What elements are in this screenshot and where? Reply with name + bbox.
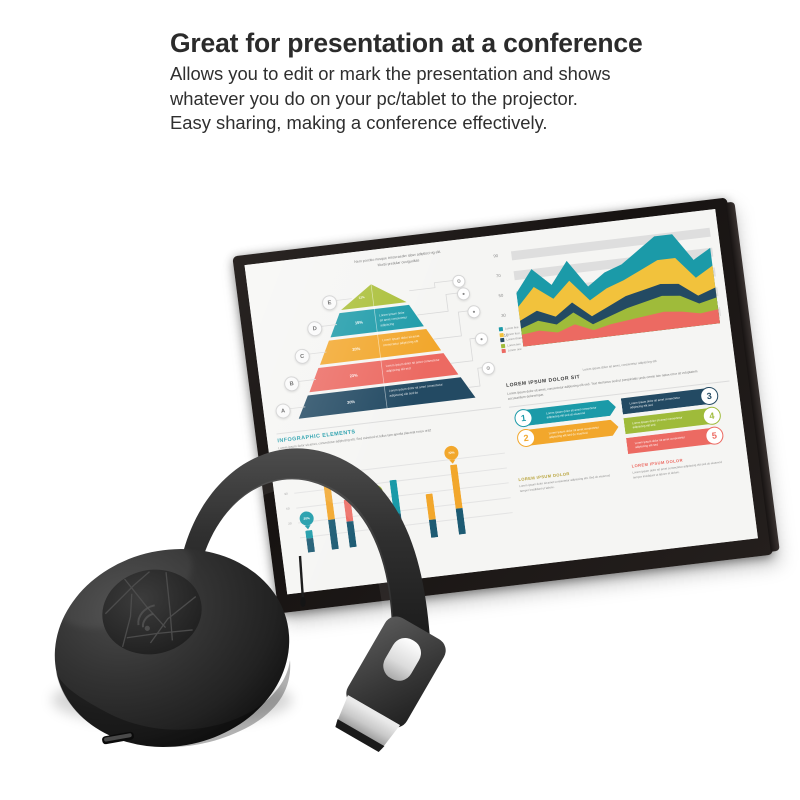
pyramid-pct-b: 23% — [349, 372, 358, 378]
pyramid-infographic: E D C B A ⚙ ● ● ● ⚙ 12% — [257, 257, 500, 429]
presentation-slide: Nem porcitio nusque trisceraeder iaber a… — [245, 209, 758, 594]
slide-left-column: E D C B A ⚙ ● ● ● ⚙ 12% — [257, 257, 517, 555]
stacked-area-chart: 90 70 50 30 10 — [489, 224, 725, 371]
bar-pin-0: 20% — [299, 511, 315, 527]
tv-screen: smart Nem porcitio nusque trisceraeder i… — [245, 209, 758, 594]
pyramid-pct-a: 30% — [347, 399, 356, 405]
pyramid-pct-e: 12% — [358, 295, 364, 300]
tv-body: smart Nem porcitio nusque trisceraeder i… — [232, 197, 773, 613]
legend-item-4: Lorem one — [502, 347, 524, 354]
area-chart-legend: Lorem five Lorem four Lorem three Lorem … — [499, 325, 524, 355]
footer-column-0: LOREM IPSUM DOLOR Lorem ipsum dolor sit … — [518, 465, 617, 493]
bar-1 — [322, 472, 339, 550]
bar-6 — [450, 465, 466, 535]
area-ytick-50: 50 — [498, 293, 503, 299]
bar-ytick-90: 90 — [284, 492, 288, 496]
area-ytick-30: 30 — [501, 313, 506, 319]
bar-ytick-30: 30 — [288, 522, 292, 526]
bar-ytick-60: 60 — [286, 507, 290, 511]
slide-right-column: 90 70 50 30 10 — [489, 224, 741, 494]
footer-column-1: LOREM IPSUM DOLOR Lorem ipsum dolor sit … — [631, 452, 730, 480]
bar-3 — [374, 504, 386, 544]
product-marketing-image: Great for presentation at a conference A… — [0, 0, 800, 800]
bar-pin-1: 61% — [315, 453, 331, 469]
area-ytick-90: 90 — [493, 253, 498, 259]
bar-2 — [344, 500, 357, 548]
bar-0 — [305, 530, 315, 553]
television-display: smart Nem porcitio nusque trisceraeder i… — [0, 0, 800, 800]
bar-5 — [426, 494, 439, 538]
area-ytick-70: 70 — [496, 273, 501, 279]
pyramid-pct-c: 20% — [352, 346, 361, 352]
pin-bar-chart: 30 60 90 — [280, 431, 517, 555]
pyramid-pct-d: 15% — [355, 319, 364, 325]
